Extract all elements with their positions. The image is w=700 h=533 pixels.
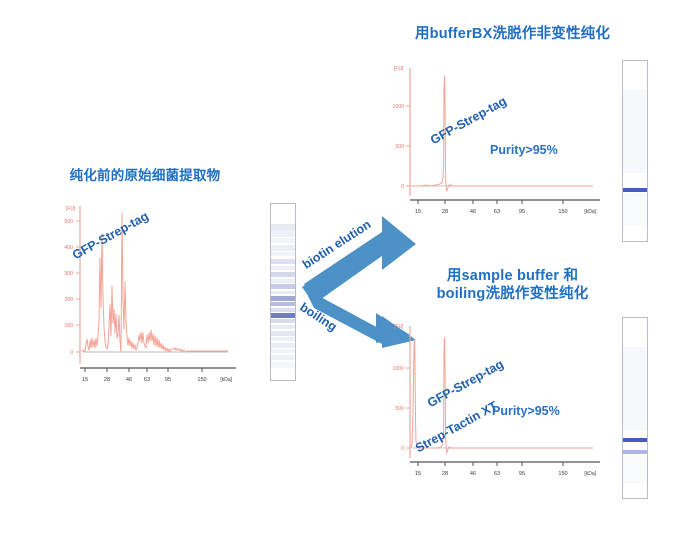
denaturing-purification-gel [622, 317, 648, 499]
crude-extract-chart: 0 100 200 300 400 500 [FU] 15 28 46 63 9… [28, 200, 248, 390]
denaturing-gel-bands [623, 318, 647, 498]
gel-band [271, 204, 295, 224]
y-unit-label: [FU] [66, 206, 76, 212]
top-panel-title: 用bufferBX洗脱作非变性纯化 [390, 26, 635, 44]
x-unit-label: [kDa] [584, 209, 596, 215]
svg-text:0: 0 [401, 446, 404, 452]
gel-band [271, 355, 295, 360]
svg-text:500: 500 [395, 144, 404, 150]
svg-text:15: 15 [415, 209, 421, 215]
svg-text:15: 15 [415, 471, 421, 477]
gel-band [271, 245, 295, 250]
gel-band [271, 252, 295, 256]
denaturing-purification-svg: 0 500 1000 [FU] 15 28 46 63 95 150 [kDa] [388, 318, 613, 483]
gel-band [271, 266, 295, 270]
gel-band [271, 302, 295, 306]
svg-text:46: 46 [126, 377, 132, 383]
svg-text:95: 95 [519, 471, 525, 477]
gel-band [271, 259, 295, 264]
svg-text:46: 46 [470, 471, 476, 477]
svg-text:100: 100 [64, 323, 73, 329]
native-purity-label: Purity>95% [490, 143, 558, 157]
svg-text:500: 500 [64, 219, 73, 225]
gel-band [623, 188, 647, 192]
gel-band [271, 284, 295, 289]
gel-band [271, 343, 295, 348]
left-panel-title: 纯化前的原始细菌提取物 [20, 168, 270, 184]
svg-text:15: 15 [82, 377, 88, 383]
svg-text:1000: 1000 [392, 366, 404, 372]
gel-band [271, 362, 295, 367]
x-ticks: 15 28 46 63 95 150 [kDa] [82, 368, 233, 383]
gel-band [271, 291, 295, 295]
y-ticks: 0 500 1000 [392, 366, 410, 452]
bottom-panel: 用sample buffer 和 boiling洗脱作变性纯化 [390, 268, 635, 303]
svg-text:63: 63 [144, 377, 150, 383]
svg-text:150: 150 [197, 377, 206, 383]
svg-text:28: 28 [442, 471, 448, 477]
gel-band [623, 90, 647, 173]
svg-text:300: 300 [64, 271, 73, 277]
native-purification-svg: 0 500 1000 [FU] 15 28 46 63 95 150 [kDa] [388, 58, 613, 218]
gel-band [623, 438, 647, 442]
svg-text:28: 28 [104, 377, 110, 383]
gel-band [271, 296, 295, 301]
left-panel: 纯化前的原始细菌提取物 [20, 168, 270, 184]
crude-gel-bands [271, 204, 295, 380]
native-purification-gel [622, 60, 648, 242]
svg-text:63: 63 [494, 209, 500, 215]
gel-band [271, 238, 295, 242]
svg-text:63: 63 [494, 471, 500, 477]
x-ticks: 15 28 46 63 95 150 [kDa] [415, 462, 597, 477]
svg-text:95: 95 [519, 209, 525, 215]
gel-band [623, 347, 647, 430]
gel-band [271, 319, 295, 323]
gel-band [271, 331, 295, 336]
x-unit-label: [kDa] [220, 377, 232, 383]
gel-band [271, 272, 295, 277]
svg-text:1000: 1000 [392, 104, 404, 110]
native-gel-bands [623, 61, 647, 241]
y-ticks: 0 100 200 300 400 500 [64, 219, 80, 356]
svg-text:95: 95 [165, 377, 171, 383]
native-purification-chart: 0 500 1000 [FU] 15 28 46 63 95 150 [kDa] [388, 58, 613, 218]
y-unit-label: [FU] [394, 66, 404, 72]
svg-text:500: 500 [395, 406, 404, 412]
gel-band [271, 279, 295, 283]
svg-text:0: 0 [401, 184, 404, 190]
svg-text:150: 150 [558, 471, 567, 477]
crude-extract-svg: 0 100 200 300 400 500 [FU] 15 28 46 63 9… [28, 200, 248, 390]
svg-text:28: 28 [442, 209, 448, 215]
gel-band [623, 193, 647, 225]
gel-band [623, 450, 647, 453]
gel-band [271, 349, 295, 353]
denaturing-purification-chart: 0 500 1000 [FU] 15 28 46 63 95 150 [kDa] [388, 318, 613, 483]
gel-band [623, 456, 647, 485]
svg-text:200: 200 [64, 297, 73, 303]
svg-text:0: 0 [70, 350, 73, 356]
crude-extract-gel [270, 203, 296, 381]
gel-band [271, 325, 295, 329]
y-ticks: 0 500 1000 [392, 104, 410, 190]
y-unit-label: [FU] [394, 324, 404, 330]
x-ticks: 15 28 46 63 95 150 [kDa] [415, 200, 597, 215]
x-unit-label: [kDa] [584, 471, 596, 477]
gel-band [271, 308, 295, 312]
gel-band [271, 230, 295, 236]
svg-text:46: 46 [470, 209, 476, 215]
gel-band [271, 337, 295, 341]
denaturing-purity-label: Purity>95% [492, 404, 560, 418]
top-panel: 用bufferBX洗脱作非变性纯化 [390, 26, 635, 44]
gel-band [271, 224, 295, 229]
bottom-panel-title: 用sample buffer 和 boiling洗脱作变性纯化 [390, 268, 635, 303]
gel-band [271, 313, 295, 318]
svg-text:150: 150 [558, 209, 567, 215]
